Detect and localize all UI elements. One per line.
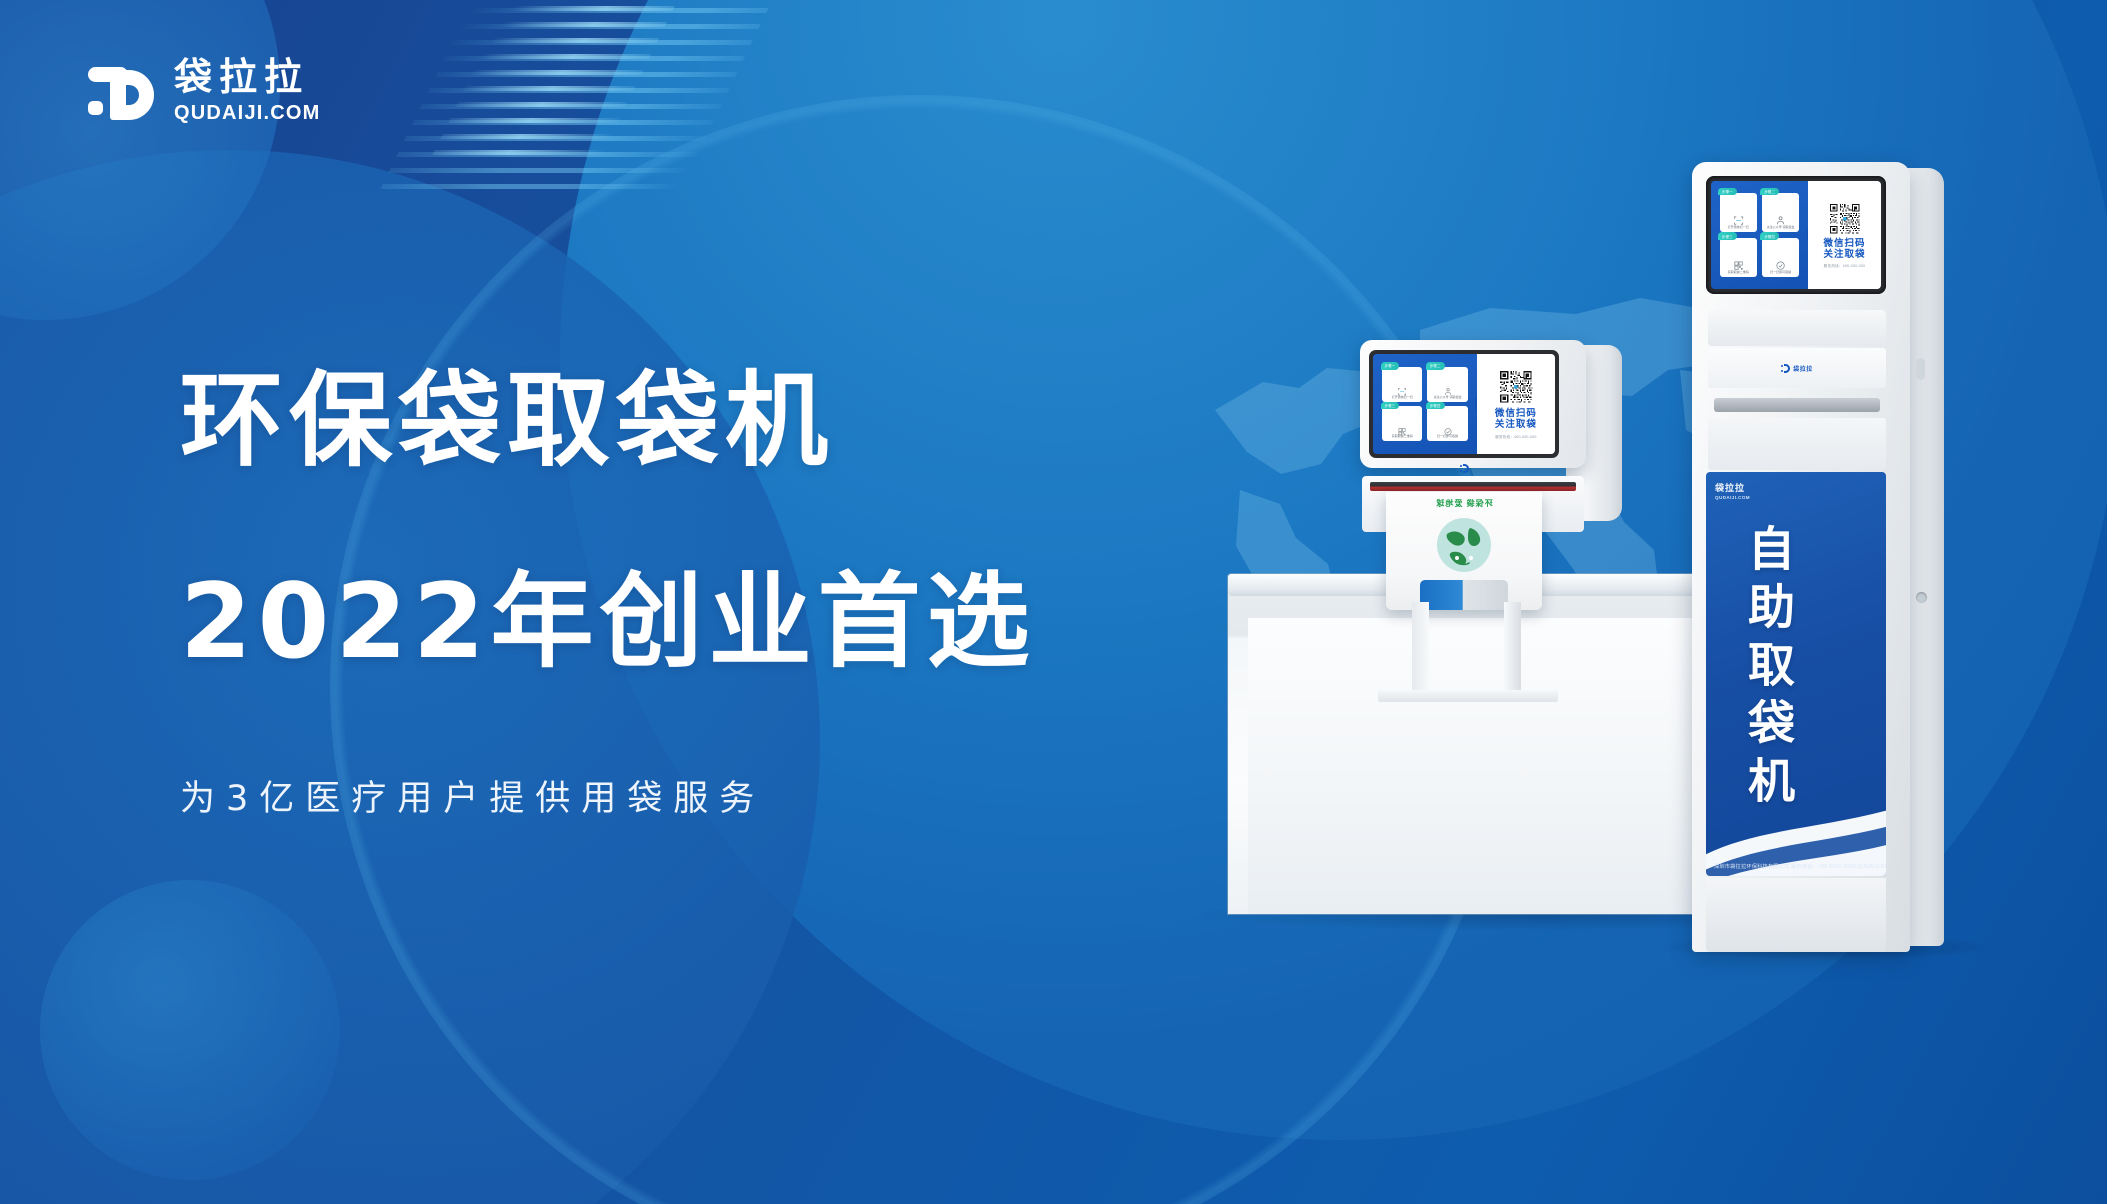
screen-qr-panel: 微信扫码 关注取袋 服务热线：400-000-000 bbox=[1808, 181, 1881, 289]
step-tag: 步骤三 bbox=[1718, 232, 1737, 239]
hero-subtitle: 为3亿医疗用户提供用袋服务 bbox=[180, 770, 1036, 821]
kiosk-panel-footer: 深圳市袋拉拉环保科技有限公司 服务电话：+86 0000-0000 QUDAIJ… bbox=[1714, 863, 1886, 870]
step-tag: 步骤四 bbox=[1760, 232, 1779, 239]
headline-line-2: 2022年创业首选 bbox=[180, 571, 1036, 674]
panel-logo-en: QUDAIJI.COM bbox=[1715, 495, 1750, 500]
step-tag: 步骤三 bbox=[1381, 402, 1400, 409]
step-label: 打开微信扫一扫 bbox=[1728, 226, 1749, 230]
kiosk-lock-icon bbox=[1916, 592, 1927, 603]
step-card[interactable]: 步骤四 扫一扫即可取袋 bbox=[1427, 406, 1467, 441]
step-tag: 步骤二 bbox=[1760, 188, 1779, 195]
step-tag: 步骤一 bbox=[1381, 362, 1400, 369]
kiosk-bezel-logo: 袋拉拉 bbox=[1708, 348, 1886, 388]
brand-name-cn: 袋拉拉 bbox=[174, 58, 321, 98]
headline-line-1: 环保袋取袋机 bbox=[180, 370, 1036, 473]
step-label: 扫一扫即可取袋 bbox=[1770, 271, 1791, 275]
step-card[interactable]: 步骤一 打开微信扫一扫 bbox=[1382, 367, 1422, 402]
check-circle-icon bbox=[1774, 258, 1787, 269]
bag-slogan: 环保袋 爱地球 bbox=[1386, 498, 1542, 509]
desktop-kiosk[interactable]: 步骤一 打开微信扫一扫 步骤二 bbox=[1360, 340, 1630, 600]
step-card[interactable]: 步骤三 获取取袋二维码 bbox=[1720, 238, 1758, 278]
screen-ui: 步骤一 打开微信扫一扫 步骤二 bbox=[1711, 181, 1881, 289]
desktop-kiosk-dispense-slot bbox=[1370, 482, 1576, 491]
kiosk-graphic-panel: 袋拉拉 QUDAIJI.COM 自助取袋机 深圳市袋拉拉环保科技有限公司 服务电… bbox=[1706, 472, 1886, 876]
brand-logo[interactable]: 袋拉拉 QUDAIJI.COM bbox=[88, 58, 321, 125]
screen-ui: 步骤一 打开微信扫一扫 步骤二 bbox=[1373, 354, 1555, 454]
scan-qr-icon bbox=[1395, 384, 1409, 393]
qr-caption: 服务热线：400-000-000 bbox=[1495, 435, 1537, 440]
step-card[interactable]: 步骤三 获取取袋二维码 bbox=[1382, 406, 1422, 441]
kiosk-mid-body bbox=[1708, 418, 1886, 470]
dispensed-eco-bag: 环保袋 爱地球 bbox=[1386, 492, 1542, 610]
code-get-icon bbox=[1395, 423, 1409, 432]
code-get-icon bbox=[1732, 258, 1745, 269]
desktop-kiosk-head: 步骤一 打开微信扫一扫 步骤二 bbox=[1360, 340, 1586, 468]
kiosk-bezel-brand-text: 袋拉拉 bbox=[1793, 364, 1813, 373]
screen-steps-panel: 步骤一 打开微信扫一扫 步骤二 bbox=[1711, 181, 1808, 289]
step-card[interactable]: 步骤二 关注公众号 领取权益 bbox=[1427, 367, 1467, 402]
promo-banner: 袋拉拉 QUDAIJI.COM 环保袋取袋机 2022年创业首选 为3亿医疗用户… bbox=[0, 0, 2107, 1204]
step-tag: 步骤二 bbox=[1426, 362, 1445, 369]
screen-steps-panel: 步骤一 打开微信扫一扫 步骤二 bbox=[1373, 354, 1477, 454]
screen-qr-panel: 微信扫码 关注取袋 服务热线：400-000-000 bbox=[1477, 354, 1555, 454]
wechat-qr-code[interactable] bbox=[1497, 368, 1535, 406]
step-tag: 步骤四 bbox=[1426, 402, 1445, 409]
check-circle-icon bbox=[1441, 423, 1455, 432]
panel-logo-cn: 袋拉拉 bbox=[1715, 481, 1750, 494]
step-label: 获取取袋二维码 bbox=[1728, 271, 1749, 275]
qr-title-line-2: 关注取袋 bbox=[1495, 420, 1537, 431]
panel-wave-decoration bbox=[1706, 780, 1886, 876]
step-tag: 步骤一 bbox=[1718, 188, 1737, 195]
desktop-kiosk-stand bbox=[1412, 602, 1522, 698]
step-card[interactable]: 步骤四 扫一扫即可取袋 bbox=[1762, 238, 1800, 278]
earth-globe-icon bbox=[1437, 518, 1491, 572]
hero-text-block: 环保袋取袋机 2022年创业首选 为3亿医疗用户提供用袋服务 bbox=[180, 370, 1036, 821]
kiosk-screen[interactable]: 步骤一 打开微信扫一扫 步骤二 bbox=[1706, 176, 1886, 294]
desktop-kiosk-screen[interactable]: 步骤一 打开微信扫一扫 步骤二 bbox=[1369, 350, 1559, 458]
floor-standing-kiosk[interactable]: 步骤一 打开微信扫一扫 步骤二 bbox=[1692, 162, 1944, 952]
step-label: 关注公众号 领取权益 bbox=[1767, 226, 1795, 230]
step-card[interactable]: 步骤一 打开微信扫一扫 bbox=[1720, 193, 1758, 233]
kiosk-panel-title: 自助取袋机 bbox=[1742, 524, 1790, 814]
kiosk-panel-logo: 袋拉拉 QUDAIJI.COM bbox=[1715, 481, 1750, 500]
follow-account-icon bbox=[1774, 213, 1787, 224]
brand-name-en: QUDAIJI.COM bbox=[174, 102, 321, 125]
colon-d-logo-icon: 袋拉拉 bbox=[1781, 364, 1813, 373]
qr-caption: 服务热线：400-000-000 bbox=[1824, 264, 1866, 269]
bg-circle-bottom bbox=[40, 880, 340, 1180]
kiosk-dispense-slot bbox=[1714, 398, 1880, 412]
step-card[interactable]: 步骤二 关注公众号 领取权益 bbox=[1762, 193, 1800, 233]
scan-qr-icon bbox=[1732, 213, 1745, 224]
kiosk-vent bbox=[1916, 358, 1925, 380]
kiosk-foot bbox=[1706, 878, 1886, 952]
colon-d-logo-icon bbox=[88, 63, 154, 125]
qr-title-line-2: 关注取袋 bbox=[1823, 250, 1865, 261]
kiosk-neck bbox=[1708, 310, 1886, 346]
desktop-kiosk-bezel-logo bbox=[1369, 460, 1559, 476]
colon-d-logo-icon bbox=[1460, 464, 1469, 473]
wechat-qr-code[interactable] bbox=[1827, 201, 1862, 236]
follow-account-icon bbox=[1441, 384, 1455, 393]
